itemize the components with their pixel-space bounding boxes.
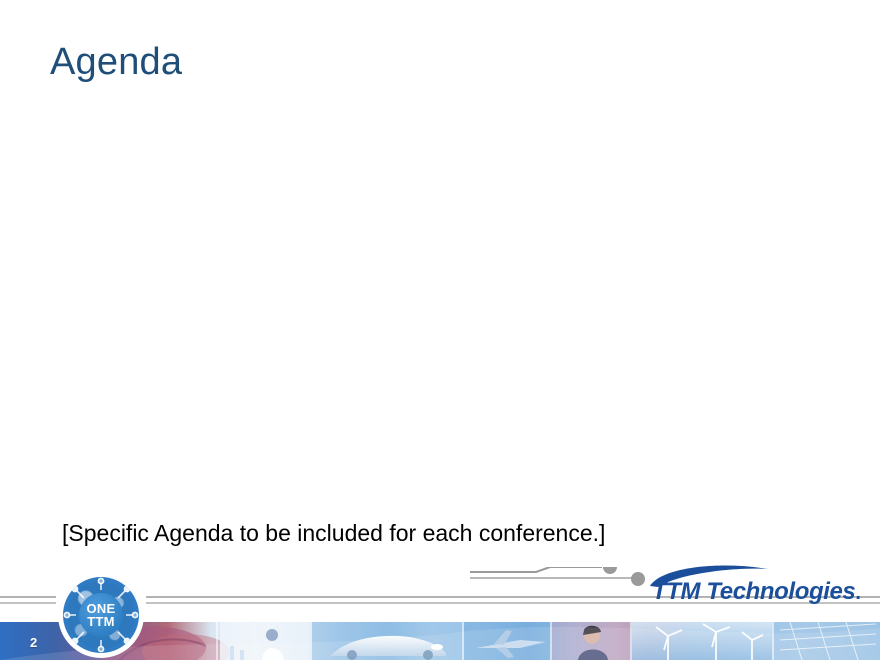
slide: Agenda [Specific Agenda to be included f…	[0, 0, 880, 660]
ttm-trailing-mark: .	[855, 582, 860, 604]
content-placeholder[interactable]: [Specific Agenda to be included for each…	[50, 110, 840, 540]
badge-circuit-ring: ONE TTM	[63, 577, 139, 653]
strip-divider	[462, 622, 464, 660]
strip-divider	[772, 622, 774, 660]
strip-divider	[630, 622, 632, 660]
agenda-placeholder-text: [Specific Agenda to be included for each…	[62, 520, 605, 548]
strip-divider	[216, 622, 218, 660]
page-number: 2	[30, 635, 37, 650]
strip-divider	[310, 622, 312, 660]
ttm-wordmark-text: TTM Technologies	[652, 578, 855, 605]
badge-line-ttm: TTM	[87, 615, 115, 628]
one-ttm-badge-icon: ONE TTM	[58, 572, 144, 658]
ttm-wordmark: TTM Technologies.	[652, 578, 861, 606]
ttm-technologies-logo: TTM Technologies.	[648, 565, 858, 607]
strip-divider	[550, 622, 552, 660]
slide-footer: ONE TTM TTM Technologies.	[0, 565, 880, 660]
badge-core: ONE TTM	[79, 593, 123, 637]
circuit-connector-icon	[470, 567, 660, 601]
page-title: Agenda	[50, 42, 182, 84]
